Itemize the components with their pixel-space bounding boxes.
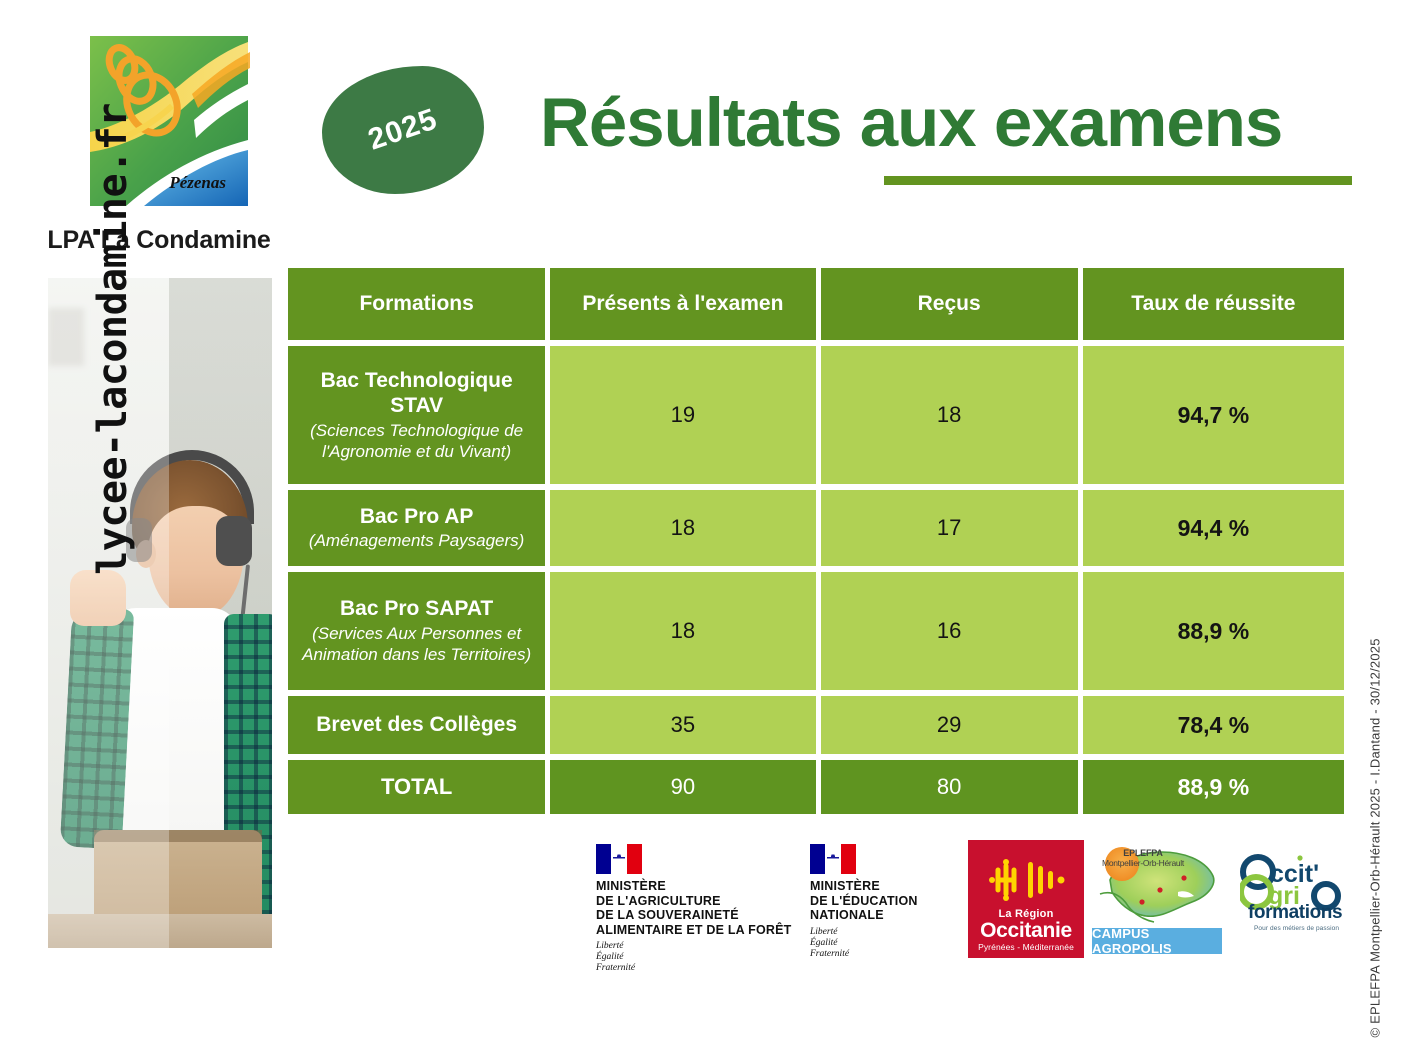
row-recus: 80 bbox=[821, 760, 1078, 814]
page-title-part1: Résultats bbox=[540, 84, 842, 161]
table-row: Bac Pro AP (Aménagements Paysagers) 18 1… bbox=[288, 490, 1344, 566]
row-name-line1: Bac Pro SAPAT bbox=[340, 596, 493, 622]
agropolis-eplefpa: EPLEFPA bbox=[1100, 848, 1186, 858]
row-taux: 94,4 % bbox=[1083, 490, 1344, 566]
results-table: Formations Présents à l'examen Reçus Tau… bbox=[288, 268, 1344, 820]
student-photo bbox=[48, 278, 272, 948]
logo-occitagri-formations: ccit' gri formations Pour des métiers de… bbox=[1240, 852, 1350, 944]
table-row: Bac Technologique STAV (Sciences Technol… bbox=[288, 346, 1344, 484]
ministry-agriculture-devise: Liberté Égalité Fraternité bbox=[596, 941, 791, 974]
row-name-cell: Bac Pro SAPAT (Services Aux Personnes et… bbox=[288, 572, 545, 690]
row-name-cell: Bac Pro AP (Aménagements Paysagers) bbox=[288, 490, 545, 566]
row-name-subtitle: (Services Aux Personnes et Animation dan… bbox=[298, 624, 535, 665]
row-taux: 88,9 % bbox=[1083, 572, 1344, 690]
site-url-vertical[interactable]: lycee-lacondamine.fr bbox=[90, 4, 136, 674]
row-recus: 18 bbox=[821, 346, 1078, 484]
row-taux: 94,7 % bbox=[1083, 346, 1344, 484]
row-name-subtitle: (Sciences Technologique de l'Agronomie e… bbox=[298, 421, 535, 462]
occitanie-line2: Occitanie bbox=[980, 920, 1072, 942]
row-recus: 16 bbox=[821, 572, 1078, 690]
row-presents: 90 bbox=[550, 760, 815, 814]
row-presents: 19 bbox=[550, 346, 815, 484]
occitanie-line3: Pyrénées - Méditerranée bbox=[978, 942, 1074, 952]
row-name-line1: Brevet des Collèges bbox=[316, 712, 517, 738]
title-underline bbox=[884, 176, 1352, 185]
logo-region-occitanie: La Région Occitanie Pyrénées - Méditerra… bbox=[968, 840, 1084, 958]
col-header-recus: Reçus bbox=[821, 268, 1078, 340]
ministry-education-name: MINISTÈRE DE L'ÉDUCATION NATIONALE bbox=[810, 879, 918, 923]
ministry-education-devise: Liberté Égalité Fraternité bbox=[810, 927, 918, 960]
row-name-line1: TOTAL bbox=[381, 774, 452, 801]
table-header-row: Formations Présents à l'examen Reçus Tau… bbox=[288, 268, 1344, 340]
logo-ministry-agriculture: MINISTÈRE DE L'AGRICULTURE DE LA SOUVERA… bbox=[596, 844, 791, 974]
occitagri-tagline: Pour des métiers de passion bbox=[1254, 925, 1339, 932]
row-presents: 18 bbox=[550, 490, 815, 566]
row-recus: 17 bbox=[821, 490, 1078, 566]
row-taux: 78,4 % bbox=[1083, 696, 1344, 754]
page-title: Résultats aux examens bbox=[540, 84, 1282, 162]
row-name-line1: Bac Technologique bbox=[321, 368, 513, 394]
ministry-agriculture-name: MINISTÈRE DE L'AGRICULTURE DE LA SOUVERA… bbox=[596, 879, 791, 937]
agropolis-sublabel: Montpellier-Orb-Hérault bbox=[1100, 858, 1186, 868]
occitagri-formations-label: formations bbox=[1248, 902, 1342, 924]
row-taux: 88,9 % bbox=[1083, 760, 1344, 814]
logo-ministry-education: MINISTÈRE DE L'ÉDUCATION NATIONALE Liber… bbox=[810, 844, 918, 960]
row-presents: 18 bbox=[550, 572, 815, 690]
year-badge: 2025 bbox=[322, 66, 484, 194]
school-logo: Pézenas LPA La Condamine bbox=[44, 28, 274, 268]
row-recus: 29 bbox=[821, 696, 1078, 754]
table-row: Brevet des Collèges 35 29 78,4 % bbox=[288, 696, 1344, 754]
logo-campus-agropolis: EPLEFPA Montpellier-Orb-Hérault CAMPUS A… bbox=[1090, 840, 1225, 958]
logo-city-label: Pézenas bbox=[168, 173, 226, 192]
table-total-row: TOTAL 90 80 88,9 % bbox=[288, 760, 1344, 814]
french-flag-icon bbox=[810, 844, 856, 874]
col-header-presents: Présents à l'examen bbox=[550, 268, 815, 340]
col-header-formations: Formations bbox=[288, 268, 545, 340]
row-name-cell: TOTAL bbox=[288, 760, 545, 814]
row-name-line1: Bac Pro AP bbox=[360, 504, 474, 530]
french-flag-icon bbox=[596, 844, 642, 874]
row-name-subtitle: (Aménagements Paysagers) bbox=[309, 531, 524, 552]
agropolis-eplefpa-label: EPLEFPA Montpellier-Orb-Hérault bbox=[1100, 848, 1186, 868]
row-presents: 35 bbox=[550, 696, 815, 754]
table-row: Bac Pro SAPAT (Services Aux Personnes et… bbox=[288, 572, 1344, 690]
occitan-cross-icon bbox=[984, 852, 1068, 908]
row-name-line2: STAV bbox=[390, 393, 443, 419]
headphone-cup-right-icon bbox=[216, 516, 252, 566]
row-name-cell: Bac Technologique STAV (Sciences Technol… bbox=[288, 346, 545, 484]
row-name-cell: Brevet des Collèges bbox=[288, 696, 545, 754]
col-header-taux: Taux de réussite bbox=[1083, 268, 1344, 340]
copyright-notice: © EPLEFPA Montpellier-Orb-Hérault 2025 -… bbox=[1368, 518, 1383, 1038]
page-title-part2: aux examens bbox=[860, 84, 1282, 161]
agropolis-band-label: CAMPUS AGROPOLIS bbox=[1092, 928, 1222, 954]
footer-logos: MINISTÈRE DE L'AGRICULTURE DE LA SOUVERA… bbox=[588, 838, 1350, 960]
year-badge-label: 2025 bbox=[306, 43, 501, 217]
logo-school-name: LPA La Condamine bbox=[44, 226, 274, 255]
